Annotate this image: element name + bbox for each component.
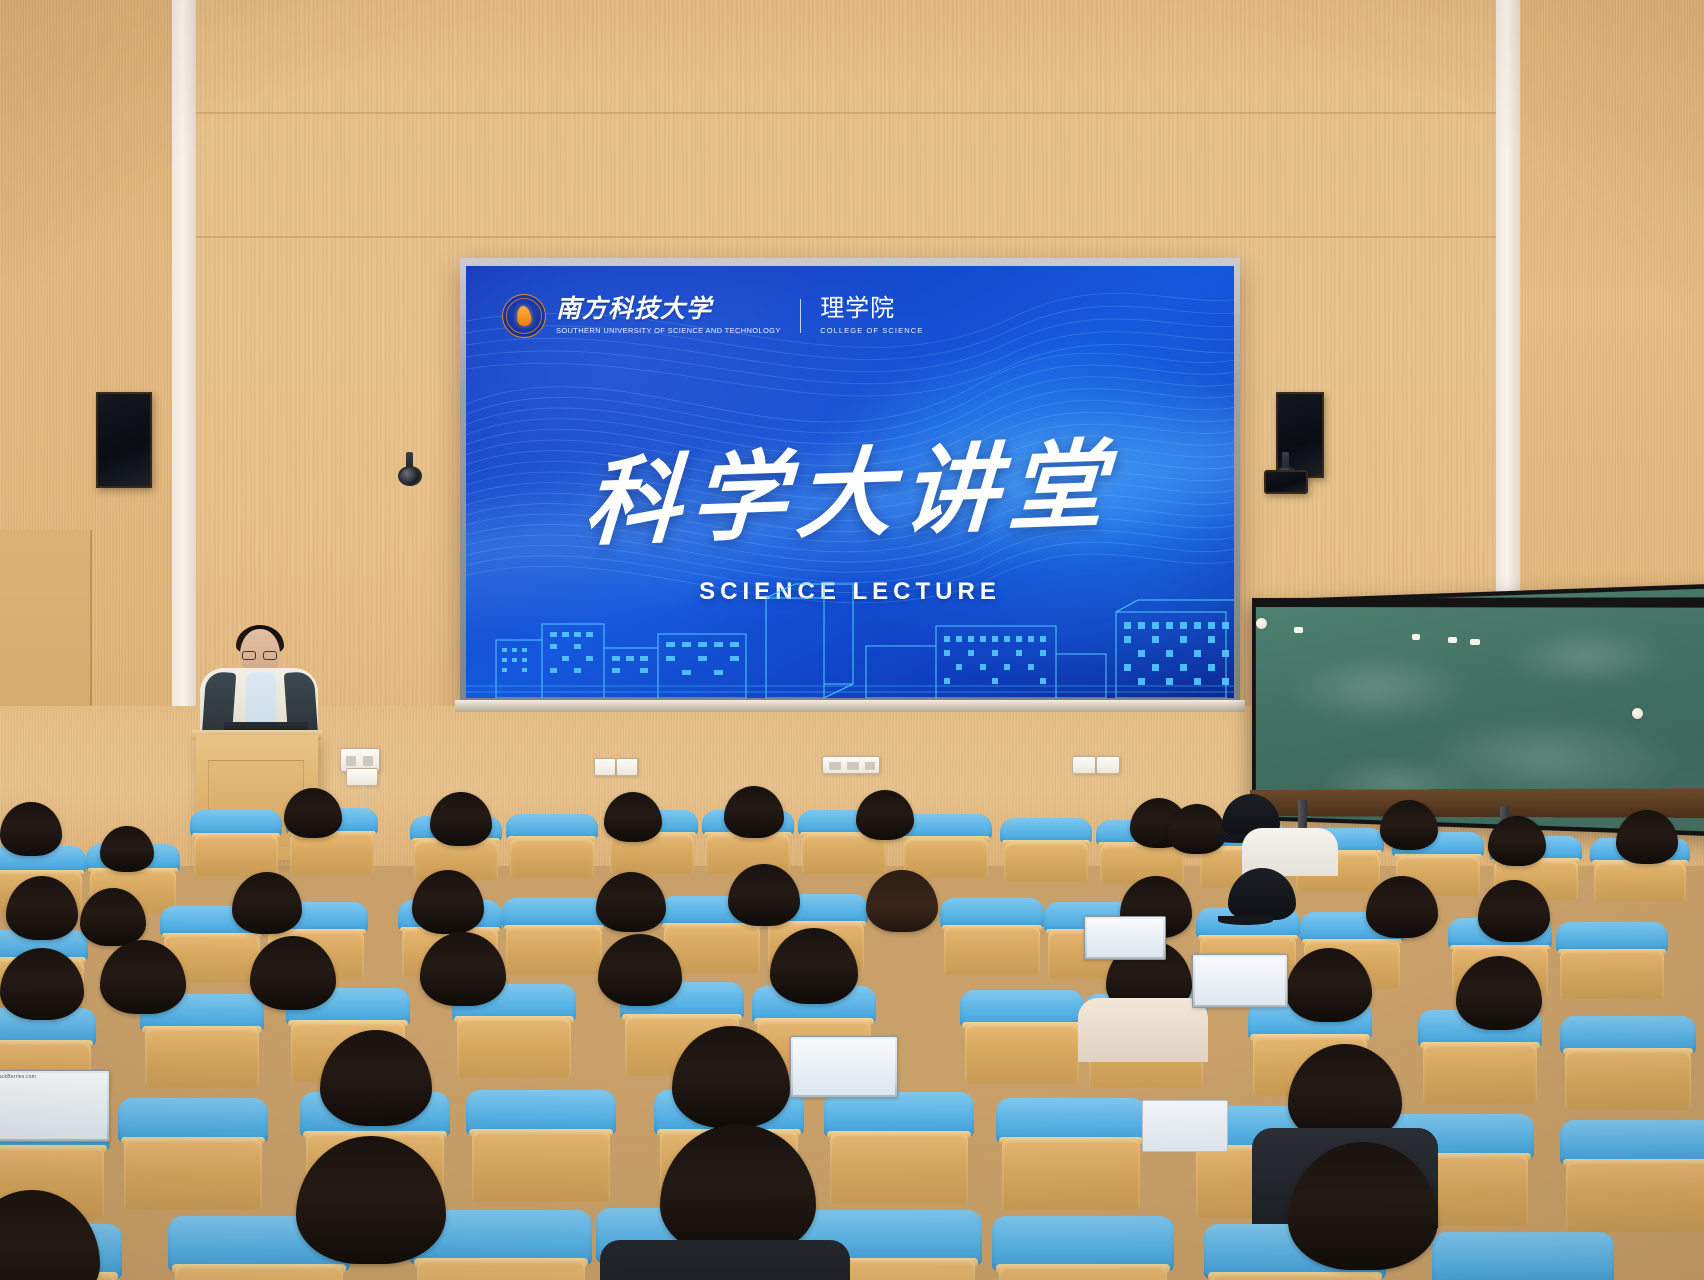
college-name-cn: 理学院 <box>820 297 923 322</box>
seat[interactable] <box>506 814 598 876</box>
seat[interactable] <box>466 1090 616 1198</box>
attendee-torso <box>1078 998 1208 1062</box>
torch-seal-icon <box>502 294 546 338</box>
chalk-piece[interactable] <box>1448 637 1457 643</box>
glasses-icon <box>242 651 278 660</box>
wall-switch[interactable] <box>1072 756 1096 774</box>
chalk-piece[interactable] <box>1632 708 1643 719</box>
attendee-head <box>728 864 800 926</box>
attendee-head <box>1380 800 1438 850</box>
seat[interactable] <box>1556 922 1668 996</box>
seat[interactable] <box>992 1216 1174 1280</box>
chalk-piece[interactable] <box>1412 634 1420 640</box>
wall-switch[interactable] <box>594 758 616 776</box>
seat[interactable] <box>1432 1232 1614 1280</box>
seat[interactable] <box>1560 1120 1704 1228</box>
attendee-laptop[interactable] <box>1192 954 1288 1008</box>
camera-mount-bracket <box>1264 470 1308 494</box>
wall-speaker <box>96 392 152 488</box>
attendee-head <box>724 786 784 838</box>
seat[interactable] <box>1560 1016 1696 1106</box>
laptop-screen-text: BlackBerries.com <box>0 1074 36 1080</box>
logo-divider <box>800 299 802 333</box>
seat[interactable] <box>118 1098 268 1206</box>
chalk-piece[interactable] <box>1294 627 1303 633</box>
attendee-head <box>866 870 938 932</box>
attendee-head <box>1488 816 1546 866</box>
wall-outlet[interactable] <box>822 756 880 774</box>
seat[interactable] <box>824 1092 974 1200</box>
wall-switch[interactable] <box>616 758 638 776</box>
seat[interactable] <box>960 990 1084 1080</box>
attendee-head <box>856 790 914 840</box>
attendee-head <box>596 872 666 932</box>
attendee-head <box>232 872 302 934</box>
seat[interactable] <box>190 810 282 874</box>
attendee-laptop[interactable] <box>1084 916 1166 960</box>
chalkboard-top-frame <box>1252 597 1704 607</box>
attendee-head <box>284 788 342 838</box>
wall-switch[interactable] <box>1096 756 1120 774</box>
university-name-cn: 南方科技大学 <box>556 297 781 323</box>
attendee-head <box>604 792 662 842</box>
attendee-head <box>1616 810 1678 864</box>
wall-seam <box>190 112 1504 114</box>
college-name-en: COLLEGE OF SCIENCE <box>820 326 923 335</box>
university-name-en: SOUTHERN UNIVERSITY OF SCIENCE AND TECHN… <box>556 326 781 335</box>
seat[interactable] <box>940 898 1044 972</box>
slide-logo: 南方科技大学 SOUTHERN UNIVERSITY OF SCIENCE AN… <box>502 294 923 338</box>
presentation-slide: 南方科技大学 SOUTHERN UNIVERSITY OF SCIENCE AN… <box>466 266 1234 698</box>
slide-title-cn: 科学大讲堂 <box>466 402 1234 568</box>
attendee-head <box>100 826 154 872</box>
attendee-torso <box>600 1240 850 1280</box>
screen-shelf <box>455 700 1245 712</box>
led-display: 南方科技大学 SOUTHERN UNIVERSITY OF SCIENCE AN… <box>460 258 1240 706</box>
attendee-head <box>430 792 492 846</box>
seat[interactable] <box>502 898 606 972</box>
attendee-laptop[interactable] <box>790 1036 898 1098</box>
attendee-head <box>0 802 62 856</box>
chalk-piece[interactable] <box>1470 639 1480 645</box>
seat[interactable] <box>1000 818 1092 880</box>
seat[interactable] <box>996 1098 1146 1206</box>
lecture-hall-scene: 南方科技大学 SOUTHERN UNIVERSITY OF SCIENCE AN… <box>0 0 1704 1280</box>
chalk-piece[interactable] <box>1256 618 1267 629</box>
attendee-laptop[interactable]: BlackBerries.com <box>0 1070 110 1142</box>
wall-seam <box>190 236 1504 238</box>
attendee-head <box>1168 804 1226 854</box>
attendee-notebook[interactable] <box>1142 1100 1228 1152</box>
campus-skyline-graphic <box>466 568 1234 698</box>
audience-seating: BlackBerries.com <box>0 780 1704 1280</box>
